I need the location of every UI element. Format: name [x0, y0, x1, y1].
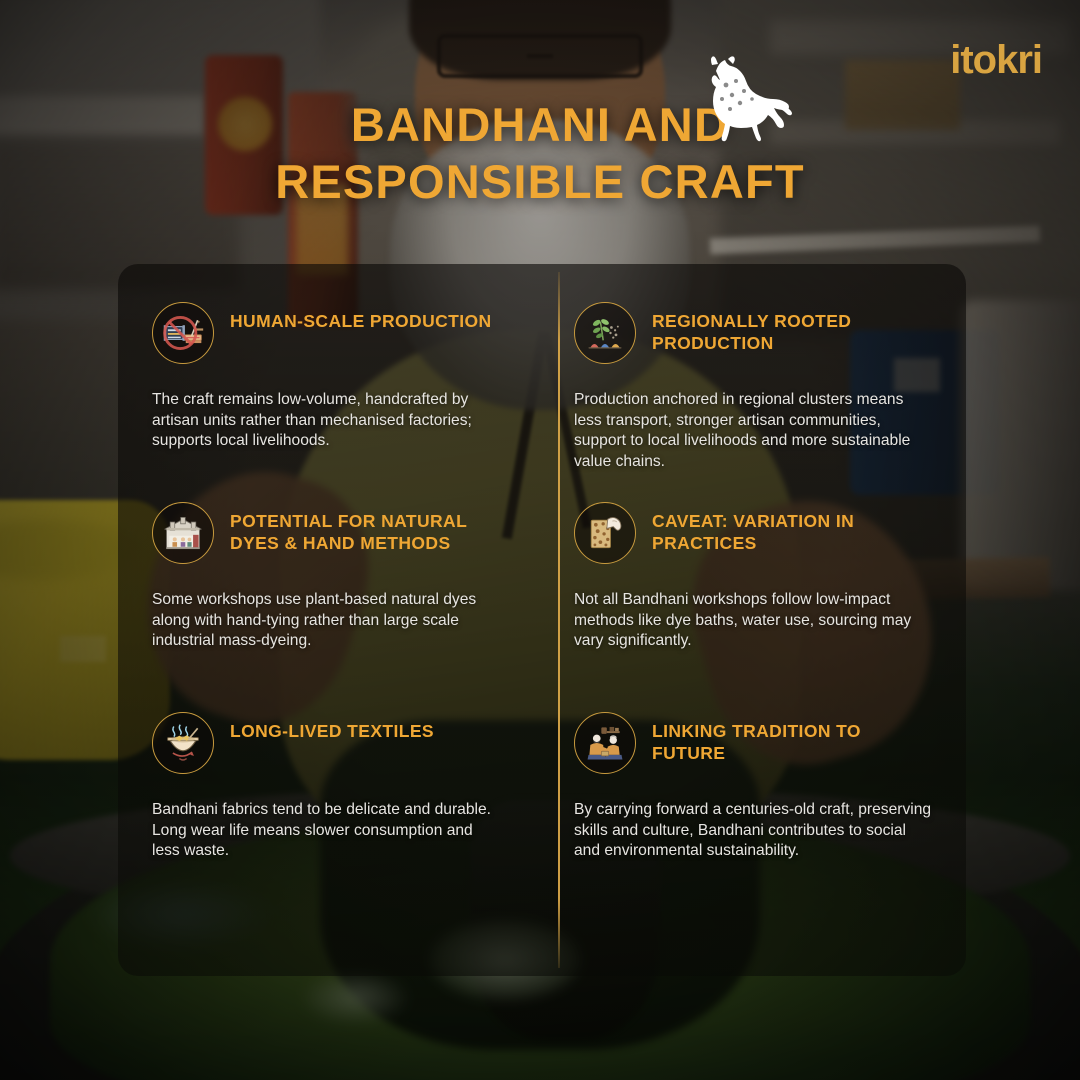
infographic-poster: itokri BANDHANI AND RESPONSIBLE CRAFT	[0, 0, 1080, 1080]
card-header: CAVEAT: VARIATION IN PRACTICES	[574, 500, 932, 564]
card-human-scale-production: HUMAN-SCALE PRODUCTION The craft remains…	[118, 264, 538, 464]
card-regionally-rooted-production: REGIONALLY ROOTED PRODUCTION Production …	[538, 264, 966, 464]
card-linking-tradition-to-future: LINKING TRADITION TO FUTURE By carrying …	[538, 674, 966, 976]
card-title: POTENTIAL FOR NATURAL DYES & HAND METHOD…	[230, 500, 500, 555]
card-title: LINKING TRADITION TO FUTURE	[652, 710, 914, 765]
card-body: Not all Bandhani workshops follow low-im…	[574, 590, 932, 652]
card-long-lived-textiles: LONG-LIVED TEXTILES Bandhani fabrics ten…	[118, 674, 538, 976]
card-title: CAVEAT: VARIATION IN PRACTICES	[652, 500, 914, 555]
card-body: The craft remains low-volume, handcrafte…	[152, 390, 504, 452]
card-header: HUMAN-SCALE PRODUCTION	[152, 300, 504, 364]
card-title: LONG-LIVED TEXTILES	[230, 710, 434, 742]
card-potential-for-natural-dyes: POTENTIAL FOR NATURAL DYES & HAND METHOD…	[118, 464, 538, 674]
card-body: By carrying forward a centuries-old craf…	[574, 800, 932, 862]
card-header: LINKING TRADITION TO FUTURE	[574, 710, 932, 774]
two-artisans-working-icon	[574, 712, 636, 774]
title-block: BANDHANI AND RESPONSIBLE CRAFT	[0, 96, 1080, 211]
hand-holding-patterned-fabric-icon	[574, 502, 636, 564]
card-caveat-variation-in-practices: CAVEAT: VARIATION IN PRACTICES Not all B…	[538, 464, 966, 674]
no-factory-machine-icon	[152, 302, 214, 364]
steaming-dye-pot-icon	[152, 712, 214, 774]
content-panel: HUMAN-SCALE PRODUCTION The craft remains…	[118, 264, 966, 976]
artisan-workshop-building-icon	[152, 502, 214, 564]
card-title: HUMAN-SCALE PRODUCTION	[230, 300, 492, 332]
itokri-logo: itokri	[950, 40, 1042, 80]
card-title: REGIONALLY ROOTED PRODUCTION	[652, 300, 914, 355]
card-grid: HUMAN-SCALE PRODUCTION The craft remains…	[118, 264, 966, 976]
card-body: Some workshops use plant-based natural d…	[152, 590, 504, 652]
card-header: LONG-LIVED TEXTILES	[152, 710, 504, 774]
card-body: Bandhani fabrics tend to be delicate and…	[152, 800, 504, 862]
plant-and-dye-powders-icon	[574, 302, 636, 364]
card-body: Production anchored in regional clusters…	[574, 390, 932, 472]
card-header: POTENTIAL FOR NATURAL DYES & HAND METHOD…	[152, 500, 504, 564]
card-header: REGIONALLY ROOTED PRODUCTION	[574, 300, 932, 364]
cheetah-silhouette-icon	[686, 55, 794, 147]
